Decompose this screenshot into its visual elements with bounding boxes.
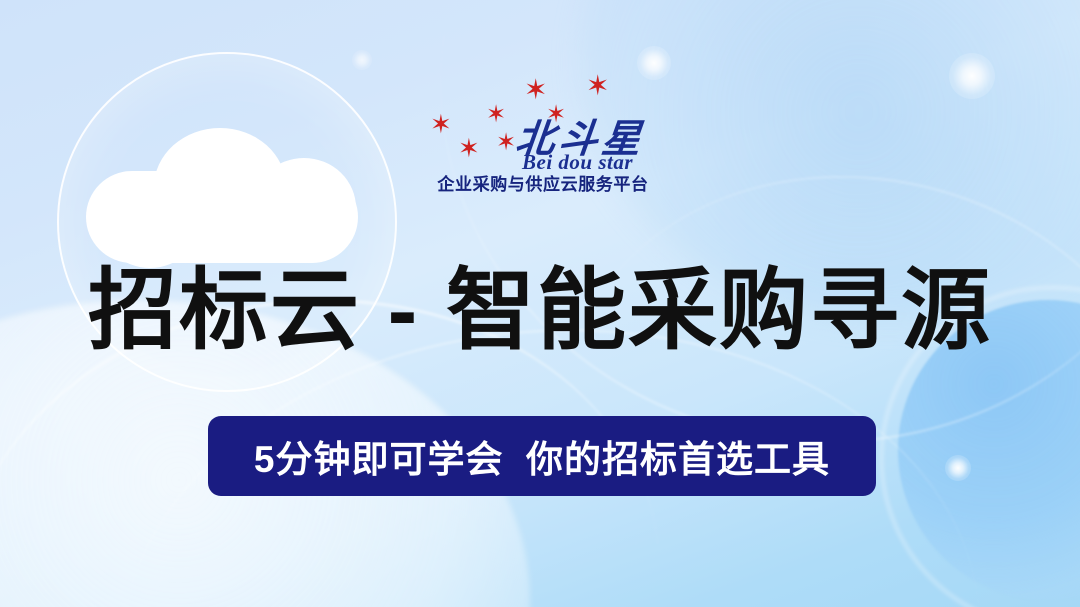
star-icon: ✶ [496,130,516,154]
cloud-icon [86,128,358,263]
title-slide: ✶✶✶✶✶✶✶ 北斗星 Bei dou star 企业采购与供应云服务平台 招标… [0,0,1080,607]
star-icon: ✶ [524,76,547,104]
subtitle-banner: 5分钟即可学会 你的招标首选工具 [208,416,876,496]
star-icon: ✶ [486,102,506,126]
star-icon: ✶ [430,112,452,138]
subtitle-banner-text: 5分钟即可学会 你的招标首选工具 [254,429,830,483]
cloud-base [86,171,358,263]
brand-tagline: 企业采购与供应云服务平台 [437,170,649,195]
page-title: 招标云 - 智能采购寻源 [0,262,1080,358]
star-icon: ✶ [458,136,480,162]
star-icon: ✶ [586,72,609,100]
